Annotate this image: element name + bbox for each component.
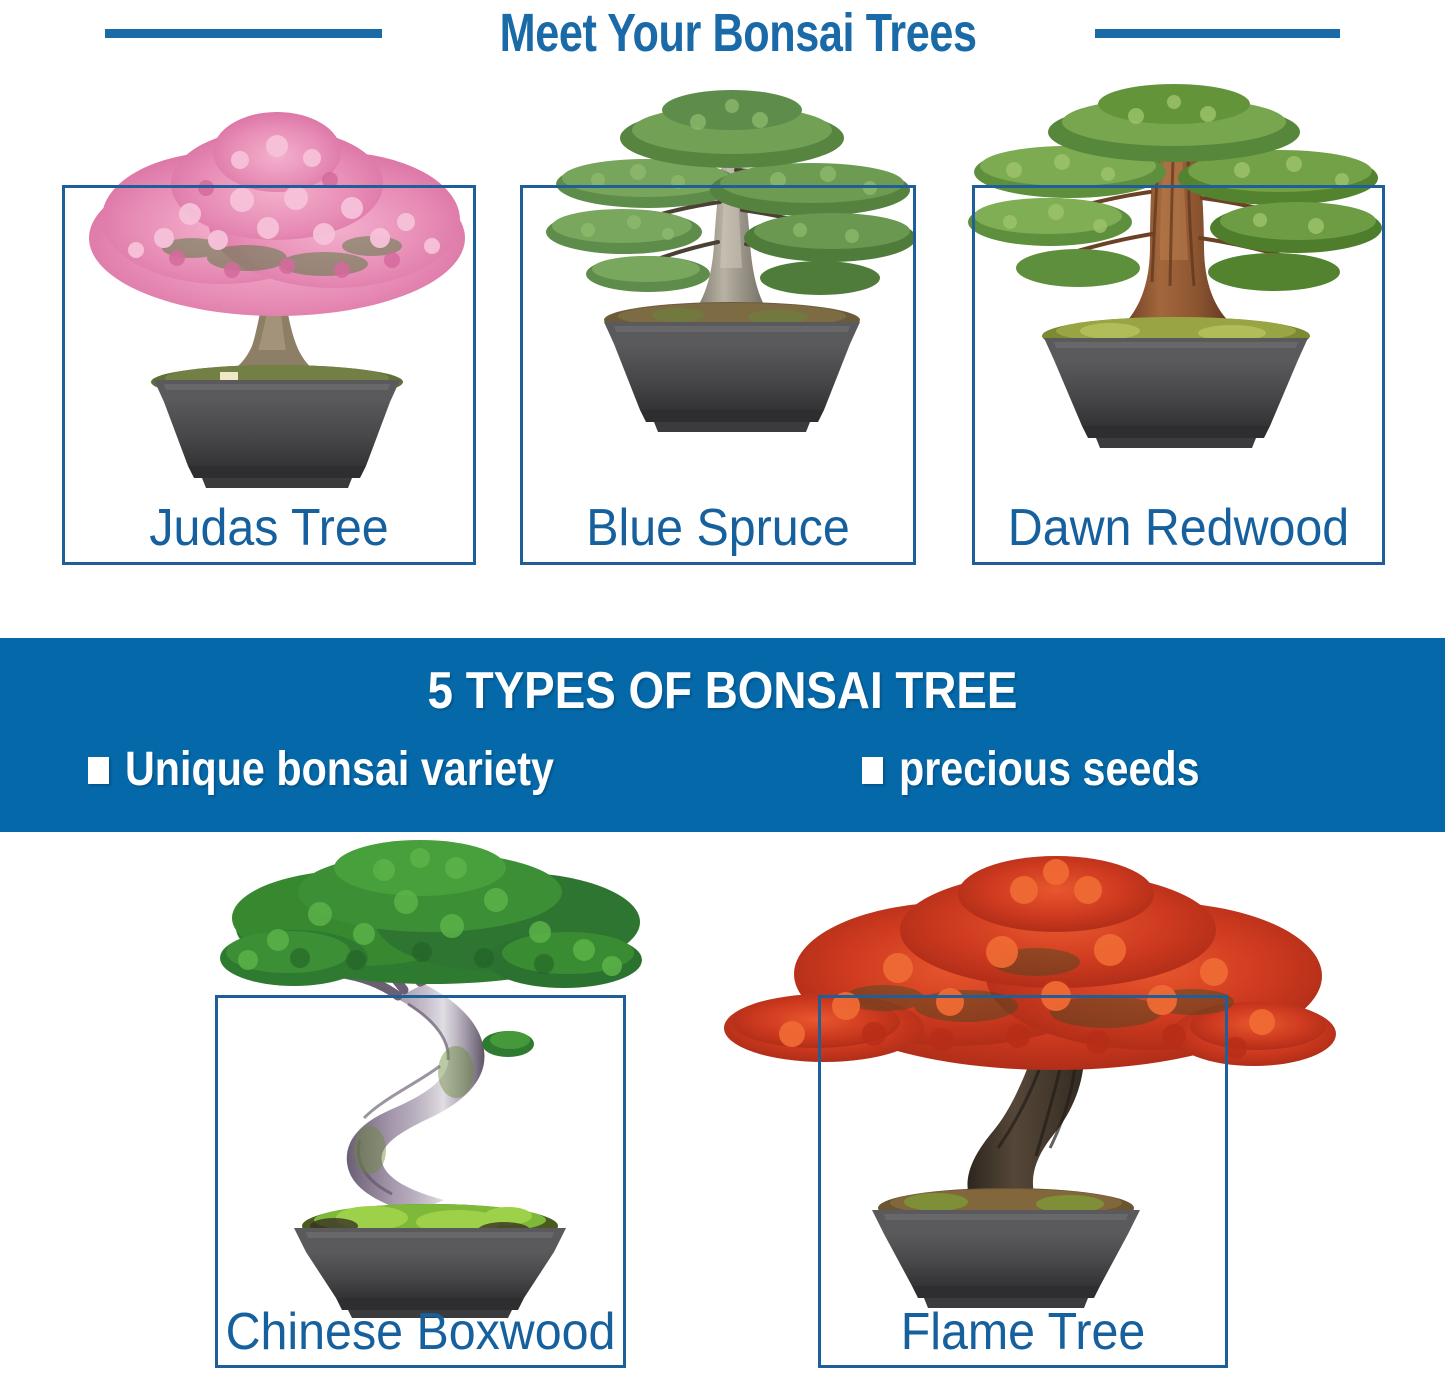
banner-title: 5 TYPES OF BONSAI TREE xyxy=(87,663,1359,719)
card-label-judas-tree: Judas Tree xyxy=(76,498,461,558)
banner-bullet-list: Unique bonsai variety precious seeds xyxy=(0,743,1445,813)
feature-banner: 5 TYPES OF BONSAI TREE Unique bonsai var… xyxy=(0,638,1445,832)
page-header: Meet Your Bonsai Trees xyxy=(0,0,1445,66)
header-divider-left-icon xyxy=(105,29,382,38)
banner-bullet-label-2: precious seeds xyxy=(899,743,1200,797)
header-divider-right-icon xyxy=(1095,29,1340,38)
infographic-page: Meet Your Bonsai Trees xyxy=(0,0,1445,1378)
page-title: Meet Your Bonsai Trees xyxy=(500,3,977,63)
card-label-chinese-boxwood: Chinese Boxwood xyxy=(212,1302,630,1362)
card-label-blue-spruce: Blue Spruce xyxy=(515,498,920,558)
card-label-dawn-redwood: Dawn Redwood xyxy=(977,498,1380,558)
banner-bullet-label-1: Unique bonsai variety xyxy=(125,743,554,797)
square-bullet-icon xyxy=(862,757,883,784)
card-label-flame-tree: Flame Tree xyxy=(832,1302,1213,1362)
square-bullet-icon xyxy=(88,757,109,784)
banner-bullet-item-2: precious seeds xyxy=(862,743,1249,797)
banner-bullet-item-1: Unique bonsai variety xyxy=(88,743,624,797)
